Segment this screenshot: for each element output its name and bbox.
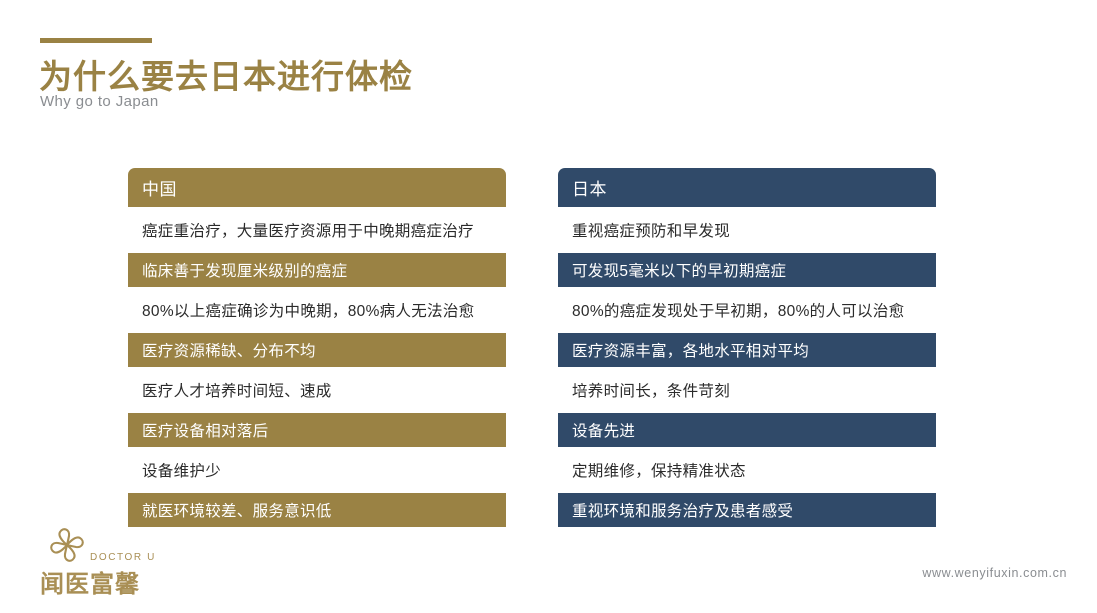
comparison-row-label: 医疗设备相对落后 bbox=[142, 419, 268, 441]
logo-text-english: DOCTOR U bbox=[90, 552, 156, 563]
comparison-row-label: 医疗资源丰富，各地水平相对平均 bbox=[572, 339, 809, 361]
page-title: 为什么要去日本进行体检 bbox=[39, 50, 413, 98]
page-subtitle: Why go to Japan bbox=[40, 93, 159, 110]
comparison-row-label: 临床善于发现厘米级别的癌症 bbox=[142, 259, 347, 281]
comparison-row-label: 定期维修，保持精准状态 bbox=[572, 459, 746, 481]
panel-header-china: 中国 bbox=[128, 168, 506, 207]
comparison-row: 80%以上癌症确诊为中晚期，80%病人无法治愈 bbox=[128, 293, 506, 327]
clover-knot-icon bbox=[46, 524, 88, 566]
title-accent-rule bbox=[40, 38, 152, 43]
comparison-row-label: 癌症重治疗，大量医疗资源用于中晚期癌症治疗 bbox=[142, 219, 474, 241]
comparison-row: 可发现5毫米以下的早初期癌症 bbox=[558, 253, 936, 287]
comparison-panel-china: 中国 癌症重治疗，大量医疗资源用于中晚期癌症治疗临床善于发现厘米级别的癌症80%… bbox=[128, 168, 506, 527]
comparison-row-label: 设备先进 bbox=[572, 419, 635, 441]
comparison-row: 设备先进 bbox=[558, 413, 936, 447]
panel-header-japan: 日本 bbox=[558, 168, 936, 207]
panel-header-label: 日本 bbox=[572, 175, 607, 200]
comparison-row: 定期维修，保持精准状态 bbox=[558, 453, 936, 487]
comparison-row-label: 80%的癌症发现处于早初期，80%的人可以治愈 bbox=[572, 299, 904, 321]
comparison-row-label: 就医环境较差、服务意识低 bbox=[142, 499, 332, 521]
comparison-row-label: 可发现5毫米以下的早初期癌症 bbox=[572, 259, 786, 281]
panel-rows-china: 癌症重治疗，大量医疗资源用于中晚期癌症治疗临床善于发现厘米级别的癌症80%以上癌… bbox=[128, 207, 506, 527]
comparison-panel-japan: 日本 重视癌症预防和早发现可发现5毫米以下的早初期癌症80%的癌症发现处于早初期… bbox=[558, 168, 936, 527]
comparison-row: 设备维护少 bbox=[128, 453, 506, 487]
comparison-row: 医疗设备相对落后 bbox=[128, 413, 506, 447]
comparison-row-label: 重视癌症预防和早发现 bbox=[572, 219, 730, 241]
comparison-row: 医疗人才培养时间短、速成 bbox=[128, 373, 506, 407]
comparison-row-label: 设备维护少 bbox=[142, 459, 221, 481]
comparison-row: 就医环境较差、服务意识低 bbox=[128, 493, 506, 527]
brand-logo: DOCTOR U 闻医富馨 bbox=[38, 524, 158, 596]
comparison-row: 癌症重治疗，大量医疗资源用于中晚期癌症治疗 bbox=[128, 213, 506, 247]
comparison-row: 医疗资源稀缺、分布不均 bbox=[128, 333, 506, 367]
logo-text-chinese: 闻医富馨 bbox=[40, 564, 140, 599]
comparison-row-label: 重视环境和服务治疗及患者感受 bbox=[572, 499, 793, 521]
comparison-row: 临床善于发现厘米级别的癌症 bbox=[128, 253, 506, 287]
footer-website-url: www.wenyifuxin.com.cn bbox=[922, 566, 1067, 580]
comparison-row: 80%的癌症发现处于早初期，80%的人可以治愈 bbox=[558, 293, 936, 327]
panel-rows-japan: 重视癌症预防和早发现可发现5毫米以下的早初期癌症80%的癌症发现处于早初期，80… bbox=[558, 207, 936, 527]
comparison-row: 医疗资源丰富，各地水平相对平均 bbox=[558, 333, 936, 367]
comparison-row-label: 80%以上癌症确诊为中晚期，80%病人无法治愈 bbox=[142, 299, 474, 321]
comparison-row: 重视环境和服务治疗及患者感受 bbox=[558, 493, 936, 527]
comparison-row: 培养时间长，条件苛刻 bbox=[558, 373, 936, 407]
comparison-row: 重视癌症预防和早发现 bbox=[558, 213, 936, 247]
panel-header-label: 中国 bbox=[142, 175, 177, 200]
comparison-row-label: 医疗人才培养时间短、速成 bbox=[142, 379, 332, 401]
comparison-row-label: 培养时间长，条件苛刻 bbox=[572, 379, 730, 401]
comparison-row-label: 医疗资源稀缺、分布不均 bbox=[142, 339, 316, 361]
